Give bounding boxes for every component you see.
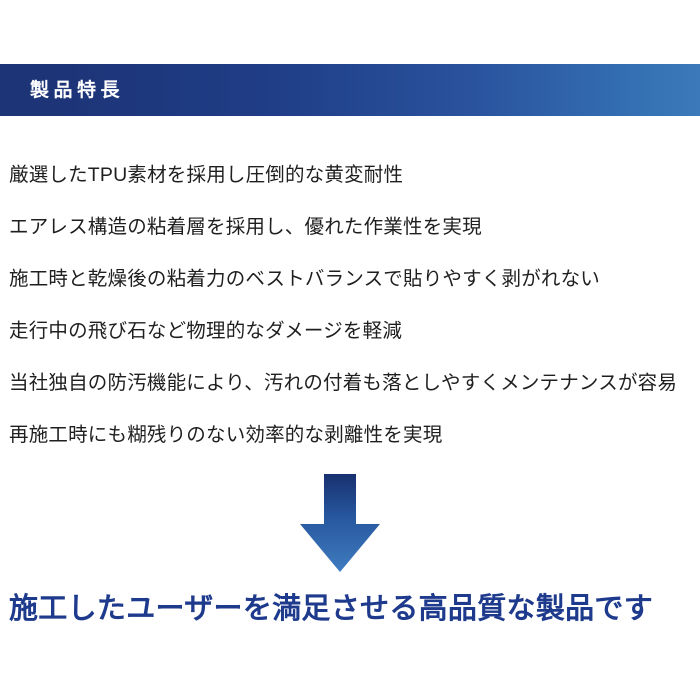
list-item: 当社独自の防汚機能により、汚れの付着も落としやすくメンテナンスが容易 <box>0 354 700 406</box>
list-item: 施工時と乾燥後の粘着力のベストバランスで貼りやすく剥がれない <box>0 250 700 302</box>
feature-text: 再施工時にも糊残りのない効率的な剥離性を実現 <box>9 418 442 447</box>
feature-text: エアレス構造の粘着層を採用し、優れた作業性を実現 <box>9 210 482 239</box>
feature-text: 走行中の飛び石など物理的なダメージを軽減 <box>9 314 402 343</box>
feature-list: 厳選したTPU素材を採用し圧倒的な黄変耐性 エアレス構造の粘着層を採用し、優れた… <box>0 146 700 458</box>
page-title: 製品特長 <box>30 81 124 100</box>
list-item: エアレス構造の粘着層を採用し、優れた作業性を実現 <box>0 198 700 250</box>
section-header-bar: 製品特長 <box>0 64 700 116</box>
feature-text: 施工時と乾燥後の粘着力のベストバランスで貼りやすく剥がれない <box>9 262 600 291</box>
product-features-page: 製品特長 厳選したTPU素材を採用し圧倒的な黄変耐性 エアレス構造の粘着層を採用… <box>0 0 700 700</box>
conclusion-statement: 施工したユーザーを満足させる高品質な製品です <box>0 582 700 630</box>
list-item: 厳選したTPU素材を採用し圧倒的な黄変耐性 <box>0 146 700 198</box>
feature-text: 厳選したTPU素材を採用し圧倒的な黄変耐性 <box>9 158 403 187</box>
conclusion-text: 施工したユーザーを満足させる高品質な製品です <box>9 585 653 627</box>
feature-text: 当社独自の防汚機能により、汚れの付着も落としやすくメンテナンスが容易 <box>9 366 677 395</box>
list-item: 走行中の飛び石など物理的なダメージを軽減 <box>0 302 700 354</box>
arrow-down-icon <box>300 474 380 572</box>
list-item: 再施工時にも糊残りのない効率的な剥離性を実現 <box>0 406 700 458</box>
